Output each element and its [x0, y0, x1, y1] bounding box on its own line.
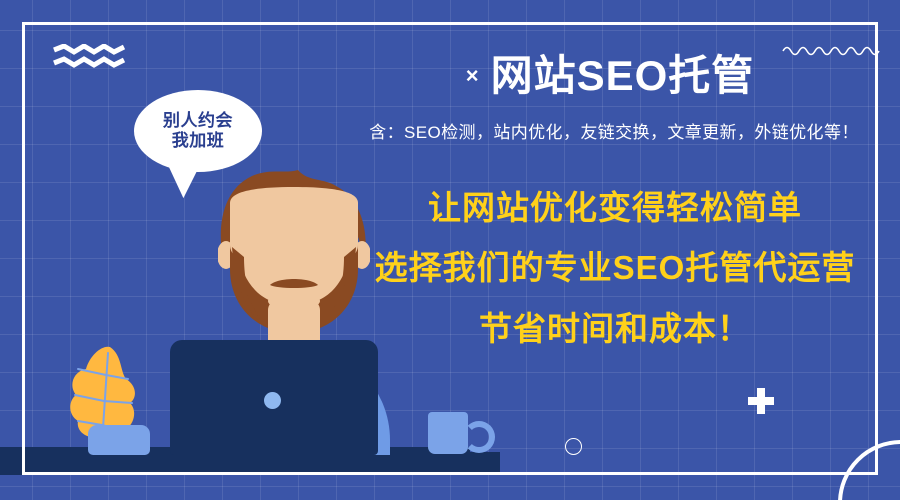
seo-hosting-banner: 别人约会 我加班 × 网站SEO托管 含：SEO检测，站内优化，友链交换，文章更…	[0, 0, 900, 500]
headline-line-2: 选择我们的专业SEO托管代运营	[342, 250, 888, 286]
speech-bubble-line-1: 别人约会	[163, 111, 233, 131]
plant-pot	[88, 425, 150, 455]
wave-zigzag-left-icon	[52, 44, 130, 70]
headline-line-1: 让网站优化变得轻松简单	[342, 190, 888, 226]
plus-mark-icon	[748, 388, 774, 414]
circle-outline-large-icon	[838, 440, 900, 500]
headline-group: 让网站优化变得轻松简单 选择我们的专业SEO托管代运营 节省时间和成本！	[342, 190, 888, 347]
subtitle: 含：SEO检测，站内优化，友链交换，文章更新，外链优化等！	[340, 118, 888, 143]
page-title: 网站SEO托管	[491, 55, 755, 97]
speech-bubble: 别人约会 我加班	[134, 90, 262, 172]
title-row: × 网站SEO托管	[340, 48, 880, 104]
desk-surface	[0, 452, 500, 475]
coffee-mug	[428, 412, 468, 454]
circle-outline-small-icon	[565, 438, 582, 455]
cross-symbol-icon: ×	[466, 65, 479, 87]
speech-bubble-line-2: 我加班	[172, 131, 225, 151]
headline-line-3: 节省时间和成本！	[342, 311, 888, 347]
laptop-logo-dot-icon	[264, 392, 281, 409]
